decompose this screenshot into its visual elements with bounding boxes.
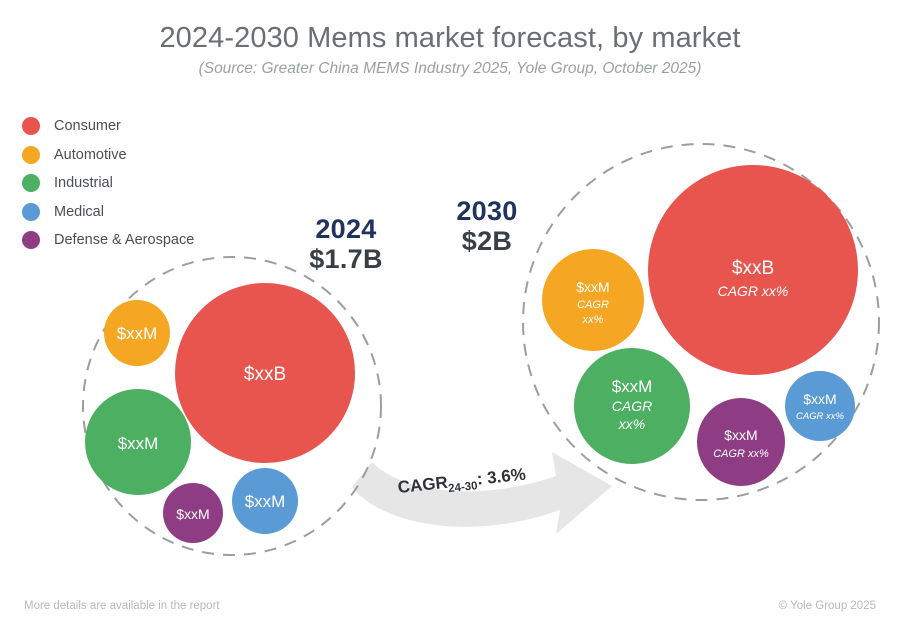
bubble-cagr-label-line2: xx% (618, 416, 645, 432)
group-total-2024: $1.7B (282, 244, 410, 274)
bubble-2024-defense[interactable]: $xxM (163, 483, 223, 543)
group-total-2030: $2B (424, 226, 550, 256)
bubble-value-label: $xxM (176, 506, 209, 522)
bubble-value-label: $xxM (245, 492, 286, 511)
bubble-cagr-label: CAGR xx% (796, 411, 845, 422)
bubble-cagr-label: CAGR xx% (718, 283, 789, 299)
bubble-2024-automotive[interactable]: $xxM (104, 300, 170, 366)
cagr-growth-arrow (352, 452, 612, 534)
cagr-annotation-prefix: CAGR (397, 473, 449, 497)
bubble-value-label: $xxM (117, 324, 158, 343)
footer-note: More details are available in the report (24, 600, 220, 612)
bubble-cagr-label-line1: CAGR (612, 398, 652, 414)
bubble-2024-industrial[interactable]: $xxM (85, 389, 191, 495)
bubble-2030-industrial[interactable]: $xxM CAGR xx% (574, 348, 690, 464)
cagr-annotation-suffix: : 3.6% (476, 465, 527, 489)
bubble-cagr-label-line2: xx% (582, 314, 604, 326)
bubble-2030-defense[interactable]: $xxM CAGR xx% (697, 398, 785, 486)
bubble-2024-medical[interactable]: $xxM (232, 468, 298, 534)
bubble-2030-automotive[interactable]: $xxM CAGR xx% (542, 249, 644, 351)
chart-canvas: 2024-2030 Mems market forecast, by marke… (0, 0, 900, 630)
bubble-value-label: $xxB (244, 364, 286, 385)
bubble-2030-medical[interactable]: $xxM CAGR xx% (785, 371, 855, 441)
bubble-value-label: $xxM (576, 279, 609, 295)
group-label-2024: 2024 $1.7B (282, 214, 410, 274)
bubble-chart-svg: $xxM $xxB $xxM $xxM $xxM $xxM CAGR xx% (0, 0, 900, 630)
bubble-cagr-label-line1: CAGR (577, 299, 609, 311)
bubble-value-label: $xxB (732, 258, 774, 279)
group-year-2030: 2030 (424, 196, 550, 226)
bubble-value-label: $xxM (118, 434, 159, 453)
bubble-value-label: $xxM (803, 391, 836, 407)
bubble-value-label: $xxM (724, 427, 757, 443)
bubble-cagr-label: CAGR xx% (713, 448, 769, 460)
footer-copyright: © Yole Group 2025 (779, 600, 876, 612)
bubble-2030-consumer[interactable]: $xxB CAGR xx% (648, 165, 858, 375)
bubble-value-label: $xxM (612, 377, 653, 396)
group-label-2030: 2030 $2B (424, 196, 550, 256)
bubble-2024-consumer[interactable]: $xxB (175, 283, 355, 463)
group-year-2024: 2024 (282, 214, 410, 244)
